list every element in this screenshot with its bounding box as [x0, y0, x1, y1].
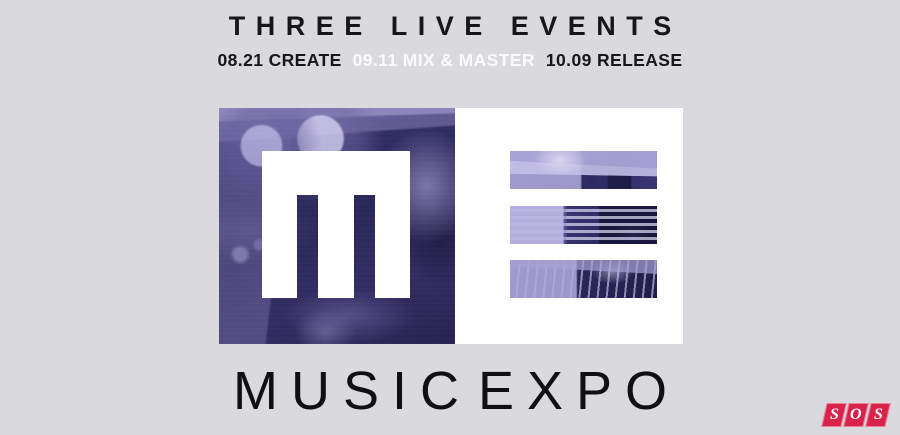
m-top-bar — [262, 151, 410, 195]
logo-panel-right — [455, 108, 683, 344]
letter-e-mark — [510, 151, 657, 298]
e-top-bar — [510, 151, 657, 189]
me-logo-block — [219, 108, 683, 344]
e-middle-bar — [510, 206, 657, 244]
brand-wordmark: MUSICEXPO — [0, 364, 900, 418]
poster-canvas: THREE LIVE EVENTS 08.21 CREATE09.11 MIX … — [0, 0, 900, 435]
poster-header: THREE LIVE EVENTS 08.21 CREATE09.11 MIX … — [0, 0, 900, 70]
e-bottom-bar-photo — [510, 260, 657, 298]
sos-tile-3: S — [865, 403, 891, 427]
page-title: THREE LIVE EVENTS — [0, 13, 900, 40]
e-bottom-bar — [510, 260, 657, 298]
wordmark-expo: EXPO — [478, 361, 680, 421]
event-item-release: 10.09 RELEASE — [546, 52, 683, 70]
event-dates-line: 08.21 CREATE09.11 MIX & MASTER10.09 RELE… — [0, 52, 900, 70]
m-right-leg — [375, 195, 410, 298]
sos-logo-watermark[interactable]: S O S — [824, 403, 888, 427]
m-left-leg — [262, 195, 297, 298]
sos-letter-3: S — [874, 407, 883, 423]
sos-letter-2: O — [850, 407, 862, 423]
logo-panel-left — [219, 108, 455, 344]
event-item-mix-and-master: 09.11 MIX & MASTER — [353, 52, 535, 70]
wordmark-music: MUSIC — [233, 361, 472, 421]
m-center-leg — [318, 195, 354, 298]
sos-letter-1: S — [830, 407, 839, 423]
letter-m-mark — [262, 151, 410, 298]
event-item-create: 08.21 CREATE — [218, 52, 342, 70]
e-middle-bar-photo — [510, 206, 657, 244]
e-top-bar-photo — [510, 151, 657, 189]
